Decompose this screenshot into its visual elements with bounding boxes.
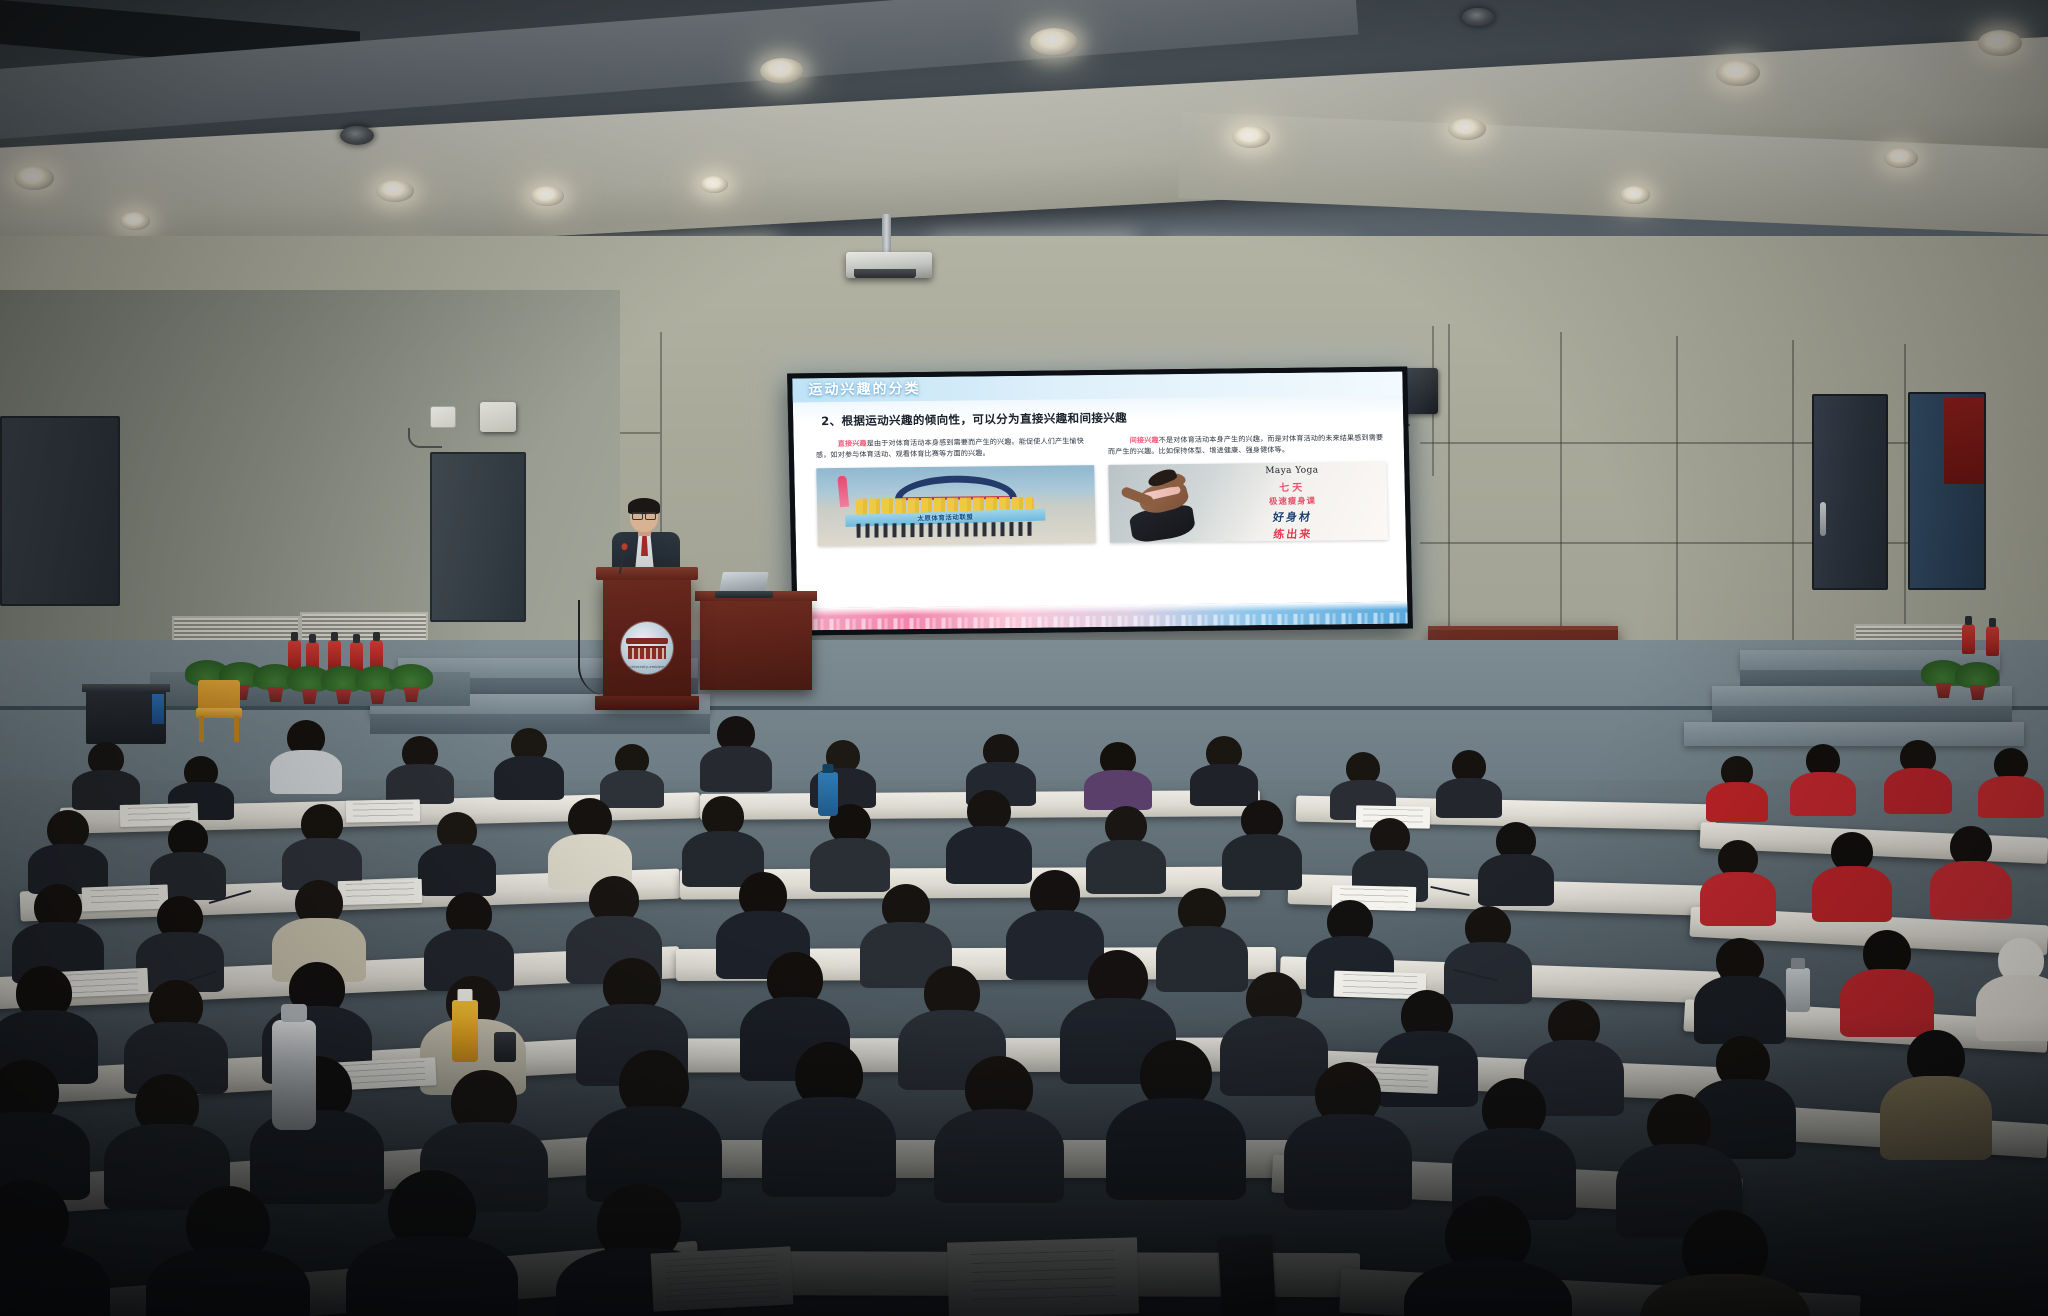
emblem-caption: university-emblem [621, 665, 673, 669]
student [1694, 938, 1786, 1040]
student [270, 720, 342, 790]
student [586, 1050, 722, 1194]
ceiling-downlight [760, 58, 804, 84]
projector [846, 252, 932, 278]
ceiling-downlight [1462, 8, 1494, 26]
water-bottle [272, 1020, 316, 1130]
student [1452, 1078, 1576, 1212]
student [700, 716, 772, 788]
ceiling-downlight [1448, 118, 1486, 140]
wall-banner [1944, 398, 1984, 484]
student [1478, 822, 1554, 902]
smartphone[interactable] [1218, 1235, 1276, 1316]
student [1106, 1040, 1246, 1192]
student [494, 728, 564, 796]
student [346, 1170, 518, 1316]
student [548, 798, 632, 886]
poster-line-3: 好身材 [1206, 508, 1380, 526]
student [762, 1042, 896, 1190]
ceiling-downlight [1620, 186, 1650, 204]
student [1436, 750, 1502, 812]
ceiling-downlight [700, 176, 728, 193]
wall-control-box [430, 406, 456, 428]
poster-line-2: 极速瘦身课 [1206, 494, 1379, 508]
ceiling-downlight [120, 212, 150, 230]
slide-keyword: 间接兴趣 [1130, 435, 1159, 444]
projection-screen: 运动兴趣的分类 2、根据运动兴趣的倾向性，可以分为直接兴趣和间接兴趣 直接兴趣是… [787, 367, 1413, 636]
ceiling-downlight [1978, 30, 2022, 56]
potted-plant [326, 666, 360, 706]
side-doorway[interactable] [0, 416, 120, 606]
ceiling-downlight [1030, 28, 1078, 56]
fitness-poster: Maya Yoga 七天 极速瘦身课 好身材 练出来 [1108, 462, 1388, 543]
side-doorway[interactable] [430, 452, 526, 622]
student [1084, 742, 1152, 806]
side-table [700, 598, 812, 690]
student-red-jacket [1706, 756, 1768, 818]
student [1880, 1030, 1992, 1152]
potted-plant [1960, 662, 1994, 702]
student [124, 980, 228, 1088]
laptop[interactable] [715, 572, 771, 598]
stage-step [1684, 722, 2024, 746]
student [934, 1056, 1064, 1196]
student-red-jacket [1812, 832, 1892, 918]
student [1190, 736, 1258, 802]
slide-column-direct: 直接兴趣是由于对体育活动本身感到需要而产生的兴趣。能促使人们产生愉快感，如对参与… [816, 435, 1098, 608]
fire-extinguisher [1986, 626, 1999, 656]
side-door[interactable] [1812, 394, 1888, 590]
ceiling-downlight [1716, 60, 1760, 86]
student [424, 892, 514, 988]
potted-plant [394, 664, 428, 704]
student [1444, 906, 1532, 1002]
student [282, 804, 362, 886]
student [682, 796, 764, 884]
fire-extinguisher [1962, 624, 1975, 654]
student [12, 884, 104, 978]
podium: university-emblem [603, 576, 691, 706]
slide-title: 运动兴趣的分类 [792, 378, 920, 399]
student [418, 812, 496, 892]
poster-line-1: 七天 [1206, 478, 1379, 495]
coffee-cup [494, 1032, 516, 1062]
student-red-jacket [1884, 740, 1952, 810]
student-red-jacket [1790, 744, 1856, 812]
poster-line-4: 练出来 [1206, 525, 1380, 543]
wooden-chair[interactable] [196, 680, 242, 742]
student [0, 1180, 110, 1316]
slide-column-indirect: 间接兴趣不是对体育活动本身产生的兴趣，而是对体育活动的未来结果感到需要而产生的兴… [1108, 432, 1390, 605]
door-handle[interactable] [1820, 502, 1826, 536]
runner-legs [856, 522, 1034, 538]
slide-paragraph: 直接兴趣是由于对体育活动本身感到需要而产生的兴趣。能促使人们产生愉快感，如对参与… [816, 435, 1094, 461]
speaker-cable [408, 428, 442, 448]
slide-paragraph: 间接兴趣不是对体育活动本身产生的兴趣，而是对体育活动的未来结果感到需要而产生的兴… [1108, 432, 1386, 458]
marathon-photo: 太原体育活动联盟 [816, 465, 1096, 546]
student [946, 790, 1032, 882]
potted-plant [360, 666, 394, 706]
wall-speaker [480, 402, 516, 432]
poster-brand: Maya Yoga [1206, 465, 1379, 477]
poster-text-block: Maya Yoga 七天 极速瘦身课 好身材 练出来 [1206, 465, 1380, 543]
thermos [1786, 968, 1810, 1012]
student [810, 804, 890, 888]
ceiling-downlight [340, 126, 374, 145]
slide-keyword: 直接兴趣 [838, 439, 867, 448]
student [1976, 938, 2048, 1038]
student-red-jacket [1930, 826, 2012, 914]
student [1222, 800, 1302, 886]
ceiling-downlight [1884, 148, 1918, 168]
slide-columns: 直接兴趣是由于对体育活动本身感到需要而产生的兴趣。能促使人们产生愉快感，如对参与… [793, 423, 1407, 609]
worksheet [947, 1237, 1139, 1316]
ceiling-downlight [530, 186, 564, 206]
student [1284, 1062, 1412, 1202]
student [104, 1074, 230, 1202]
student [146, 1186, 310, 1316]
potted-plant [292, 666, 326, 706]
student-red-jacket [1978, 748, 2044, 814]
student [1640, 1210, 1810, 1316]
worksheet [651, 1246, 794, 1311]
event-banner-text: 太原体育活动联盟 [917, 512, 973, 523]
slide: 运动兴趣的分类 2、根据运动兴趣的倾向性，可以分为直接兴趣和间接兴趣 直接兴趣是… [792, 372, 1407, 631]
ceiling-downlight [376, 180, 414, 202]
event-flag [838, 475, 850, 507]
student [28, 810, 108, 888]
juice-bottle [452, 1000, 478, 1062]
student [600, 744, 664, 804]
ceiling-downlight [1232, 126, 1270, 148]
student [72, 742, 140, 806]
water-bottle [818, 772, 838, 816]
ceiling-downlight [14, 166, 54, 190]
av-equipment-cart [86, 690, 166, 744]
student [1404, 1196, 1572, 1316]
lecture-hall-scene: 运动兴趣的分类 2、根据运动兴趣的倾向性，可以分为直接兴趣和间接兴趣 直接兴趣是… [0, 0, 2048, 1316]
student [0, 1060, 90, 1190]
student-red-jacket [1840, 930, 1934, 1034]
podium-emblem: university-emblem [621, 622, 673, 674]
student-red-jacket [1700, 840, 1776, 922]
student [386, 736, 454, 800]
glasses-icon [632, 512, 656, 517]
